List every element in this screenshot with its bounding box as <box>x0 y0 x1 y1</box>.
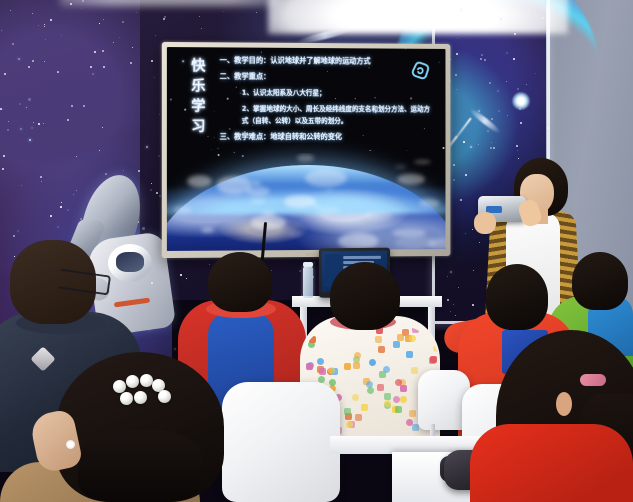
jacket-print-dot <box>354 352 361 359</box>
classroom-scene: 快 乐 学 习 一、教学目的：认识地球并了解地球的运动方式 二、教学重点： 1、… <box>0 0 633 502</box>
star <box>73 194 74 195</box>
star <box>481 54 483 56</box>
star <box>130 62 132 64</box>
star <box>484 59 486 61</box>
water-bottle <box>303 266 313 298</box>
jacket-print-dot <box>367 387 374 394</box>
jacket-print-dot <box>344 408 351 415</box>
star <box>90 66 92 68</box>
jacket-print-dot <box>378 346 385 353</box>
star <box>299 270 301 272</box>
cloud <box>395 165 406 168</box>
star <box>122 21 124 23</box>
star <box>513 58 515 60</box>
star <box>60 206 62 208</box>
star <box>472 304 474 306</box>
star <box>535 13 536 14</box>
jacket-print-dot <box>412 424 419 431</box>
star <box>452 17 453 18</box>
star <box>489 27 490 28</box>
star <box>26 107 27 108</box>
star <box>470 146 472 148</box>
star <box>456 53 458 55</box>
star <box>32 60 34 62</box>
star <box>456 89 457 90</box>
star <box>500 18 502 20</box>
cloud <box>397 173 425 184</box>
jacket-print-dot <box>433 345 440 352</box>
star <box>453 164 455 166</box>
star <box>50 215 52 217</box>
star <box>501 16 502 17</box>
earth-clouds <box>167 153 446 251</box>
star <box>163 18 165 20</box>
jacket-print-dot <box>397 334 404 341</box>
jacket-print-dot <box>411 367 418 374</box>
jacket-print-dot <box>379 371 386 378</box>
jacket-print-dot <box>400 385 407 392</box>
star <box>83 105 85 107</box>
jacket-print-dot <box>409 335 416 342</box>
star <box>2 168 4 170</box>
motto-char-2: 乐 <box>191 76 217 96</box>
boy-green-blue-hair <box>572 252 628 310</box>
slide-line-3: 1、认识太阳系及八大行星； <box>242 88 438 99</box>
star <box>517 150 518 151</box>
slide-line-4: 2、掌握地球的大小、周长及经纬线度的支名和划分方法、运动方 <box>242 104 438 115</box>
laptop-screen-row <box>344 256 382 259</box>
teacher-hand-left <box>474 212 496 234</box>
star <box>223 11 224 12</box>
star <box>28 98 31 101</box>
star <box>483 117 484 118</box>
jacket-print-dot <box>384 393 391 400</box>
star <box>458 287 459 288</box>
jacket-print-dot <box>319 368 326 375</box>
star <box>472 229 473 230</box>
star <box>526 84 527 85</box>
jacket-print-dot <box>366 381 373 388</box>
star <box>81 8 82 9</box>
star <box>70 3 72 5</box>
jacket-print-dot <box>400 396 407 403</box>
slide-line-6: 三、教学难点：地球自转和公转的变化 <box>220 132 438 142</box>
star <box>526 21 527 22</box>
star <box>493 147 495 149</box>
star <box>509 8 511 10</box>
star <box>520 122 522 124</box>
star <box>518 158 519 159</box>
jacket-print-dot <box>393 396 400 403</box>
star <box>76 190 77 191</box>
cloud <box>288 232 302 238</box>
star <box>519 108 521 110</box>
star <box>498 110 500 112</box>
cloud <box>250 214 286 231</box>
jacket-print-dot <box>361 404 368 411</box>
star <box>473 270 474 271</box>
jacket-print-dot <box>309 336 316 343</box>
star <box>465 233 466 234</box>
spiral-brand-logo-icon <box>410 61 430 81</box>
slide-line-2: 二、教学重点： <box>220 72 438 83</box>
slide-text-block: 快 乐 学 习 一、教学目的：认识地球并了解地球的运动方式 二、教学重点： 1、… <box>167 47 446 161</box>
star <box>479 242 480 243</box>
star <box>14 256 15 257</box>
star <box>174 348 176 350</box>
star <box>142 227 145 230</box>
cloud <box>364 211 392 221</box>
star <box>102 50 104 52</box>
boy-red-blue-hair <box>208 252 272 312</box>
jacket-print-dot <box>395 406 402 413</box>
star <box>31 127 33 129</box>
star <box>460 199 462 201</box>
star <box>18 58 20 60</box>
star <box>17 230 19 232</box>
star <box>20 128 22 130</box>
star <box>209 264 210 265</box>
star <box>113 42 114 43</box>
star <box>507 115 508 116</box>
star <box>76 156 77 157</box>
star <box>44 61 45 62</box>
star <box>151 282 153 284</box>
jacket-print-dot <box>409 410 416 417</box>
motto-char-1: 快 <box>191 56 217 76</box>
star <box>535 73 536 74</box>
motto-char-4: 习 <box>191 117 217 137</box>
jacket-print-dot <box>375 336 382 343</box>
cloud <box>419 199 439 208</box>
jacket-print-dot <box>329 379 336 386</box>
jacket-print-dot <box>355 414 362 421</box>
jacket-print-dot <box>352 394 359 401</box>
star <box>474 30 475 31</box>
child-red-hair <box>486 264 548 330</box>
display-brand-dot <box>305 253 315 256</box>
star <box>453 179 455 181</box>
slide-line-5: 式（自转、公转）以及五带的划分。 <box>242 116 438 126</box>
cloud <box>188 175 212 187</box>
star <box>132 47 133 48</box>
star <box>460 9 462 11</box>
star <box>478 144 479 145</box>
star <box>38 123 40 125</box>
cloud <box>249 199 265 203</box>
star <box>43 123 44 124</box>
star <box>103 19 104 20</box>
jacket-print-dot <box>353 362 360 369</box>
star <box>67 209 69 211</box>
jacket-print-dot <box>406 351 413 358</box>
astronaut-visor <box>116 252 144 272</box>
star <box>4 73 6 75</box>
star <box>491 142 492 143</box>
star <box>450 271 452 273</box>
slide-motto-vertical: 快 乐 学 习 <box>191 56 217 137</box>
cloud <box>305 169 346 187</box>
girl-right-coat <box>470 424 633 502</box>
star <box>28 66 30 68</box>
star <box>547 127 549 129</box>
ring-icon <box>66 440 75 449</box>
cloud <box>325 189 334 192</box>
star <box>516 145 518 147</box>
jacket-print-dot <box>377 384 384 391</box>
chair-center[interactable] <box>222 382 340 502</box>
star <box>455 74 457 76</box>
star <box>138 170 140 172</box>
slide-body-lines: 一、教学目的：认识地球并了解地球的运动方式 二、教学重点： 1、认识太阳系及八大… <box>220 55 438 148</box>
star <box>67 119 69 121</box>
star <box>57 71 59 73</box>
star <box>491 118 493 120</box>
star <box>506 81 507 82</box>
star <box>542 17 544 19</box>
star <box>44 26 45 27</box>
star <box>41 181 42 182</box>
cloud <box>318 206 339 214</box>
star <box>517 88 519 90</box>
star <box>256 12 257 13</box>
star <box>463 141 465 143</box>
star <box>102 127 103 128</box>
star <box>450 311 451 312</box>
star <box>480 58 482 60</box>
star <box>514 33 516 35</box>
cloud <box>245 186 269 196</box>
star <box>489 82 491 84</box>
star <box>19 103 21 105</box>
star <box>119 37 120 38</box>
star <box>99 23 100 24</box>
jacket-print-dot <box>344 363 351 370</box>
slide-line-1: 一、教学目的：认识地球并了解地球的运动方式 <box>220 55 438 66</box>
hair-tie-pink <box>580 374 606 386</box>
star <box>105 173 107 175</box>
cloud <box>201 227 214 232</box>
girl-right-ear <box>556 392 572 416</box>
star <box>508 2 509 3</box>
jacket-print-dot <box>317 358 324 365</box>
wall-display[interactable]: 快 乐 学 习 一、教学目的：认识地球并了解地球的运动方式 二、教学重点： 1、… <box>162 42 451 258</box>
star <box>61 202 62 203</box>
star <box>490 147 492 149</box>
star <box>99 150 100 151</box>
star <box>476 13 478 15</box>
star <box>465 174 467 176</box>
star <box>32 13 33 14</box>
star <box>487 130 489 132</box>
star <box>92 73 94 75</box>
star <box>13 235 15 237</box>
star <box>477 24 478 25</box>
star <box>314 262 315 263</box>
girl-left-ponytail <box>78 430 202 502</box>
star <box>3 155 5 157</box>
girl-patterned-hair <box>330 262 400 330</box>
star <box>424 30 426 32</box>
star <box>155 35 156 36</box>
star <box>38 25 39 26</box>
star <box>506 52 508 54</box>
cloud <box>174 207 191 214</box>
star <box>457 38 458 39</box>
star <box>12 43 14 45</box>
jacket-print-dot <box>412 326 419 333</box>
motto-char-3: 学 <box>191 97 217 117</box>
star <box>8 121 9 122</box>
star <box>146 146 148 148</box>
star <box>71 105 73 107</box>
star <box>447 276 448 277</box>
star <box>453 304 454 305</box>
star <box>10 10 11 11</box>
star <box>103 66 105 68</box>
star <box>1 30 2 31</box>
star <box>40 176 42 178</box>
star <box>271 270 272 271</box>
star <box>7 129 9 131</box>
star <box>136 12 137 13</box>
jacket-print-dot <box>429 357 436 364</box>
star <box>44 24 45 25</box>
star <box>21 185 22 186</box>
star <box>61 35 62 36</box>
jacket-print-dot <box>306 363 313 370</box>
star <box>123 170 124 171</box>
star <box>478 110 480 112</box>
star <box>455 315 456 316</box>
star <box>50 19 52 21</box>
star <box>547 100 548 101</box>
star <box>2 109 3 110</box>
star <box>29 139 31 141</box>
display-screen[interactable]: 快 乐 学 习 一、教学目的：认识地球并了解地球的运动方式 二、教学重点： 1、… <box>167 47 446 251</box>
jacket-print-dot <box>369 359 376 366</box>
star <box>94 51 96 53</box>
star <box>201 28 202 29</box>
jacket-print-dot <box>393 341 400 348</box>
star <box>33 122 34 123</box>
cloud <box>251 181 261 186</box>
star <box>497 90 499 92</box>
star <box>57 226 59 228</box>
star <box>82 0 84 2</box>
star <box>45 39 46 40</box>
